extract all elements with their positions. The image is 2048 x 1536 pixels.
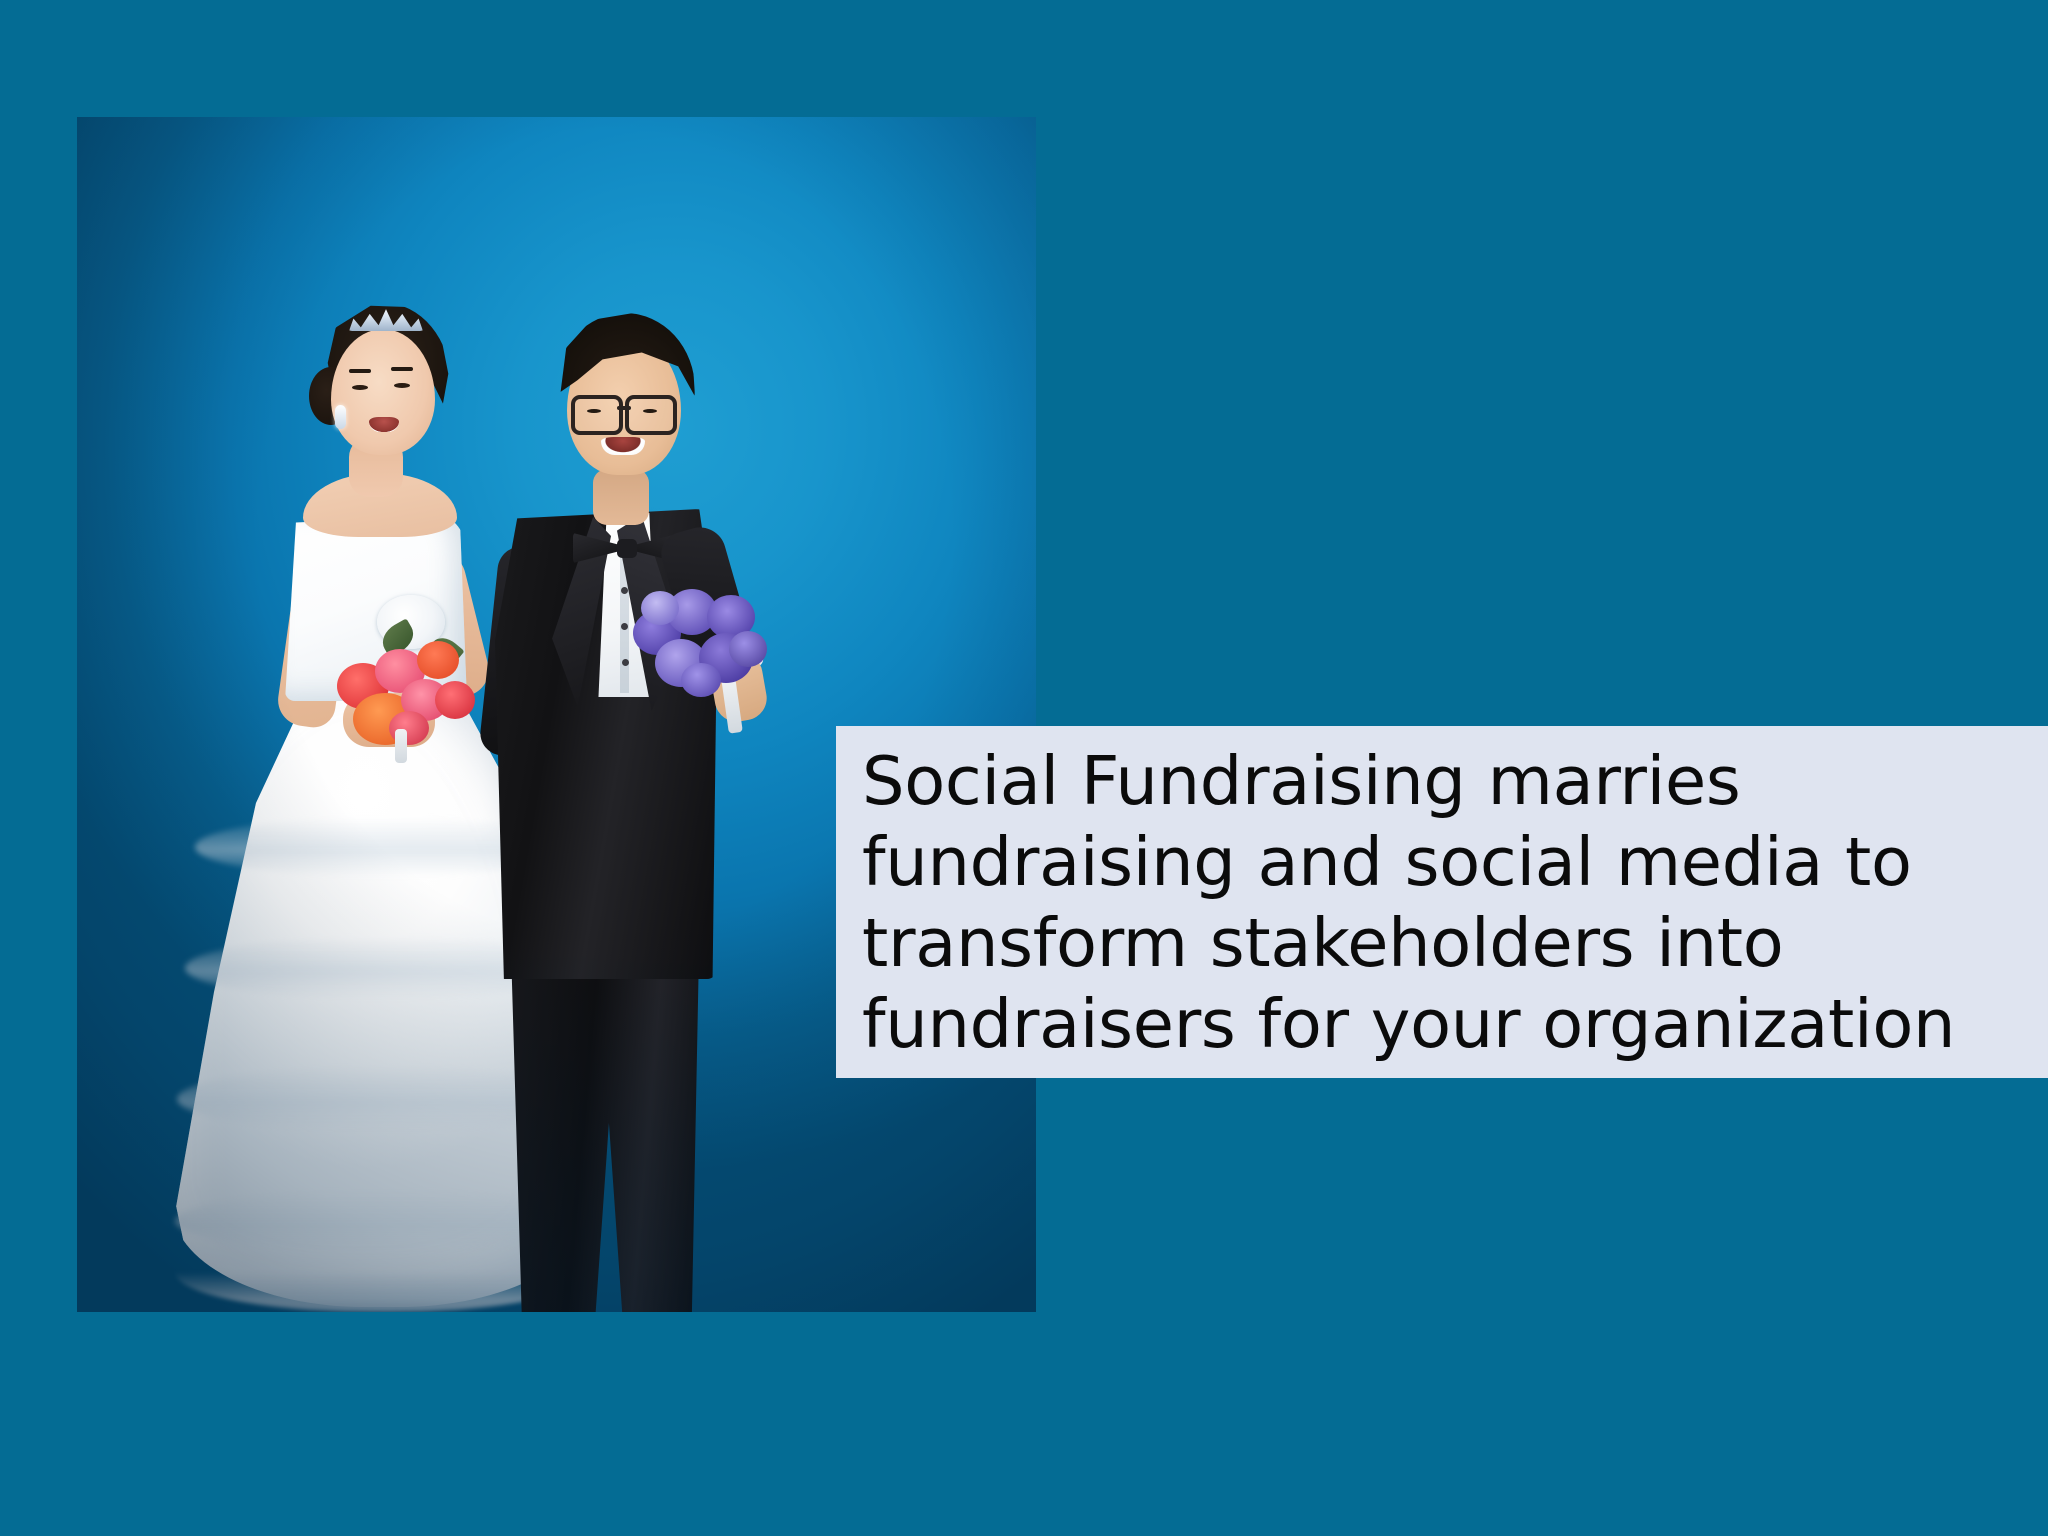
photo-vignette <box>77 117 1036 1312</box>
presentation-slide: Social Fundraising marries fundraising a… <box>0 0 2048 1536</box>
caption-text: Social Fundraising marries fundraising a… <box>862 741 2026 1065</box>
caption-text-box: Social Fundraising marries fundraising a… <box>836 726 2048 1078</box>
wedding-couple-photo <box>77 117 1036 1312</box>
